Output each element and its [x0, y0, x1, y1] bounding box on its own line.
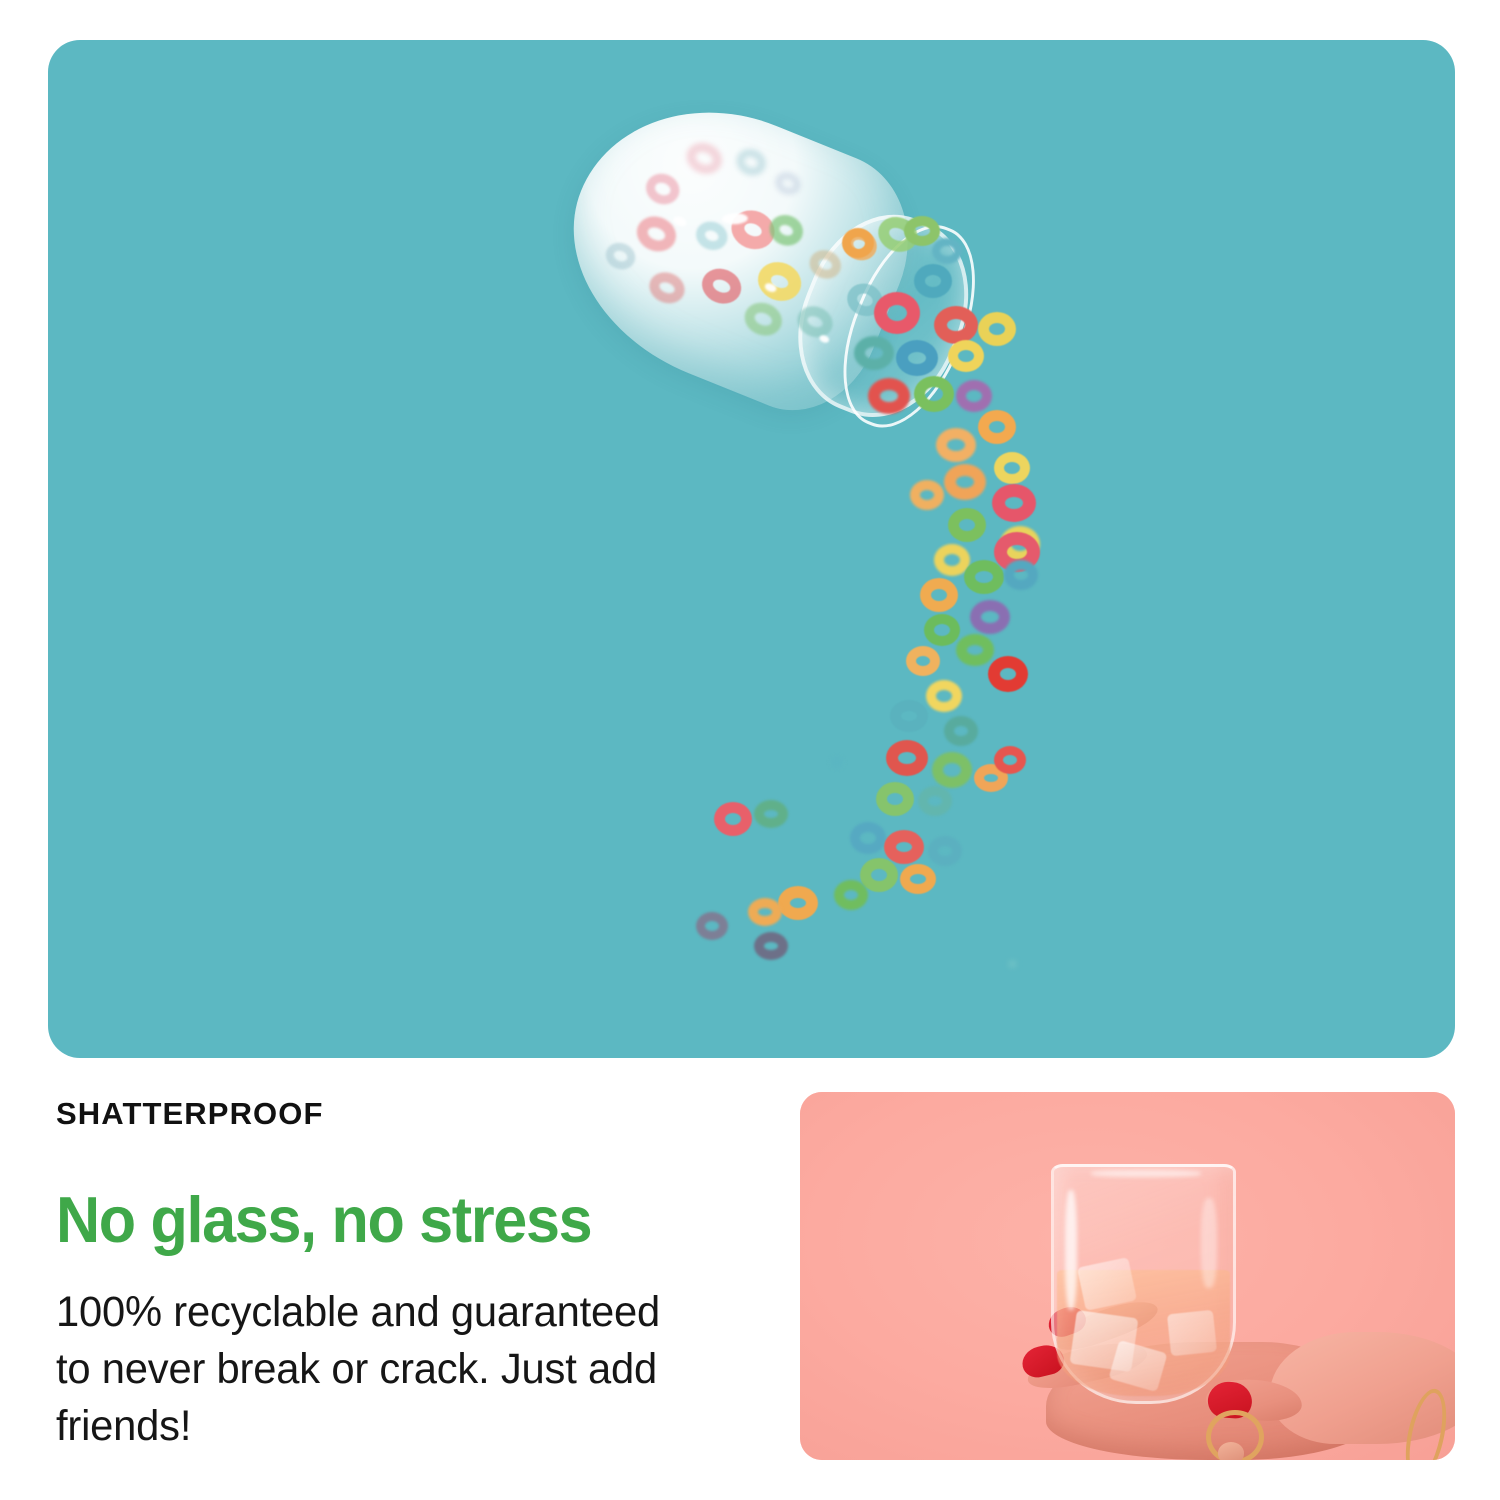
- ring-gem: [1218, 1442, 1244, 1460]
- glass-highlight: [1065, 1190, 1077, 1310]
- cereal-ring: [994, 452, 1030, 484]
- cereal-crumb: [832, 758, 842, 767]
- cereal-ring: [874, 292, 920, 334]
- cereal-ring: [978, 312, 1016, 346]
- cereal-ring: [890, 700, 928, 732]
- pink-panel: [800, 1092, 1455, 1460]
- stemless-wine-glass: [1051, 1164, 1236, 1404]
- cereal-ring: [956, 634, 994, 666]
- cereal-ring: [948, 508, 986, 542]
- ice-cube: [1167, 1310, 1217, 1357]
- cereal-ring: [924, 614, 960, 646]
- cereal-ring: [868, 378, 910, 414]
- copy-block: SHATTERPROOF No glass, no stress 100% re…: [56, 1098, 716, 1455]
- cereal-ring: [904, 216, 940, 246]
- cereal-ring: [936, 428, 976, 462]
- cereal-ring: [850, 822, 886, 854]
- cereal-ring: [932, 752, 972, 788]
- cereal-ring: [896, 340, 938, 376]
- cereal-crumb: [1008, 960, 1017, 968]
- cereal-ring: [906, 646, 940, 676]
- cereal-ring: [900, 864, 936, 894]
- cereal-ring: [1004, 560, 1038, 590]
- cereal-ring: [926, 680, 962, 712]
- cereal-ring: [748, 898, 782, 926]
- hero-panel: [48, 40, 1455, 1058]
- cereal-ring: [920, 578, 958, 612]
- cereal-ring: [956, 380, 992, 412]
- cereal-ring: [842, 228, 874, 258]
- cereal-ring: [994, 746, 1026, 774]
- glass-highlight: [1091, 1170, 1201, 1177]
- cereal-ring: [944, 716, 978, 746]
- cereal-ring: [914, 376, 954, 412]
- headline: No glass, no stress: [56, 1187, 676, 1252]
- cereal-ring: [754, 800, 788, 828]
- cereal-ring: [918, 786, 952, 816]
- cereal-ring: [932, 238, 962, 264]
- cereal-ring: [988, 656, 1028, 692]
- product-feature-card: SHATTERPROOF No glass, no stress 100% re…: [0, 0, 1500, 1500]
- cereal-ring: [978, 410, 1016, 444]
- cereal-ring: [944, 464, 986, 500]
- cereal-ring: [914, 264, 952, 298]
- glass-highlight: [1201, 1198, 1217, 1288]
- cereal-ring: [754, 932, 788, 960]
- cereal-ring: [834, 880, 868, 910]
- body-copy: 100% recyclable and guaranteed to never …: [56, 1284, 696, 1455]
- cereal-ring: [854, 336, 894, 370]
- cereal-ring: [928, 836, 962, 866]
- cereal-ring: [884, 830, 924, 864]
- cereal-ring: [964, 560, 1004, 594]
- cereal-ring: [778, 886, 818, 920]
- cereal-ring: [934, 306, 978, 344]
- cereal-ring: [886, 740, 928, 776]
- eyebrow-label: SHATTERPROOF: [56, 1098, 716, 1129]
- cereal-ring: [992, 484, 1036, 522]
- cereal-ring: [696, 912, 728, 940]
- cereal-ring: [876, 782, 914, 816]
- cereal-ring: [948, 340, 984, 372]
- cereal-ring: [714, 802, 752, 836]
- cereal-ring: [970, 600, 1010, 634]
- cereal-ring: [910, 480, 944, 510]
